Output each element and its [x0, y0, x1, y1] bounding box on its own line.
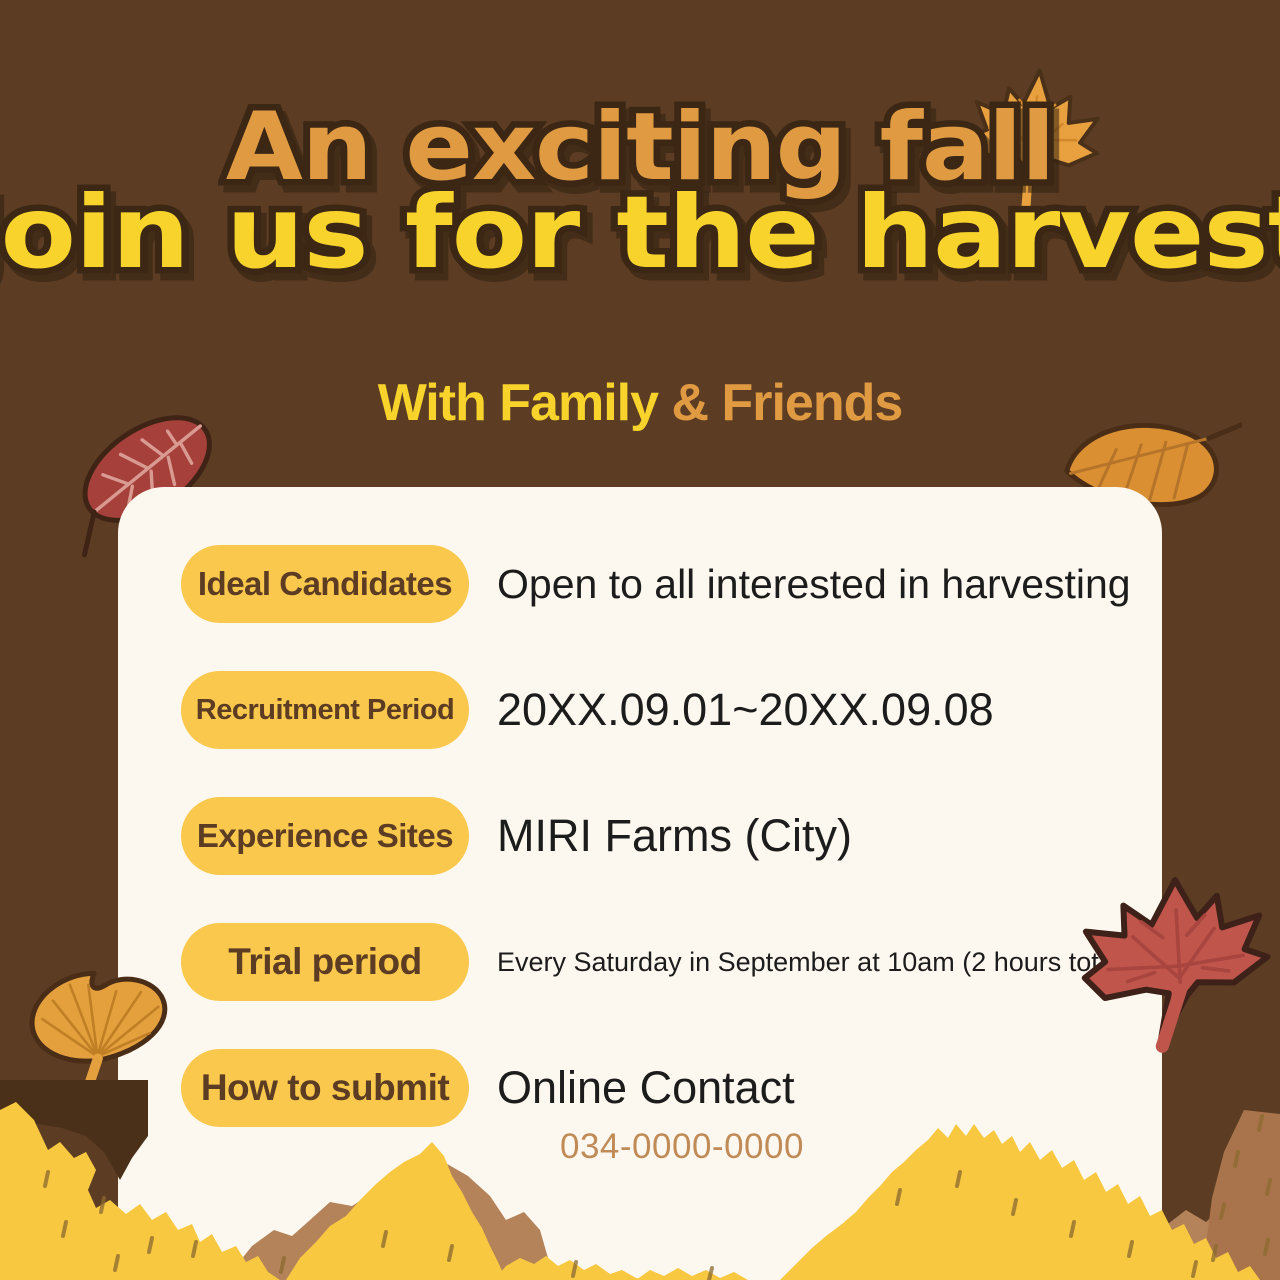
row-value-ideal-candidates: Open to all interested in harvesting: [469, 561, 1162, 608]
info-row-recruitment-period: Recruitment Period 20XX.09.01~20XX.09.08: [181, 671, 1162, 749]
info-row-experience-sites: Experience Sites MIRI Farms (City): [181, 797, 1162, 875]
row-label-ideal-candidates: Ideal Candidates: [181, 545, 469, 623]
headline-line-2: Join us for the harvest: [0, 186, 1280, 280]
subtitle-family: With Family: [378, 374, 672, 432]
autumn-hills-icon: [0, 1080, 1280, 1280]
row-value-trial-period: Every Saturday in September at 10am (2 h…: [469, 947, 1162, 978]
info-row-trial-period: Trial period Every Saturday in September…: [181, 923, 1162, 1001]
row-label-experience-sites: Experience Sites: [181, 797, 469, 875]
subtitle: With Family & Friends: [0, 373, 1280, 433]
row-value-recruitment-period: 20XX.09.01~20XX.09.08: [469, 684, 1162, 736]
row-value-experience-sites: MIRI Farms (City): [469, 810, 1162, 862]
row-label-trial-period: Trial period: [181, 923, 469, 1001]
autumn-harvest-poster: An exciting fall Join us for the harvest…: [0, 0, 1280, 1280]
headline-block: An exciting fall Join us for the harvest: [0, 104, 1280, 280]
info-rows: Ideal Candidates Open to all interested …: [181, 545, 1162, 1167]
subtitle-friends: & Friends: [671, 374, 902, 432]
info-row-ideal-candidates: Ideal Candidates Open to all interested …: [181, 545, 1162, 623]
row-label-recruitment-period: Recruitment Period: [181, 671, 469, 749]
